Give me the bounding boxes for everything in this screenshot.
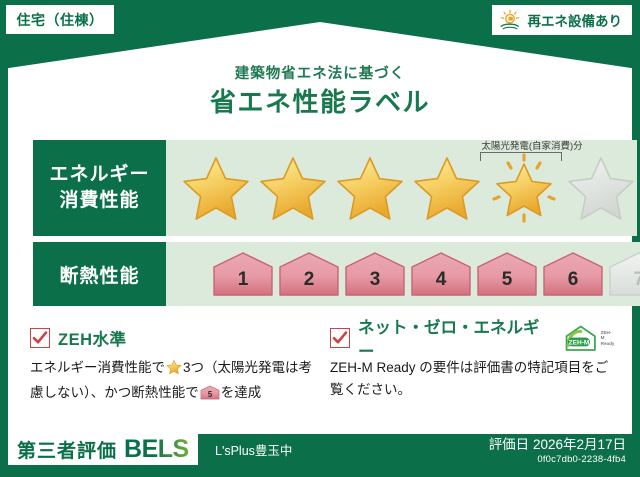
star-filled-3 [334,153,406,223]
zeh-standard-body: エネルギー消費性能で 3つ（太陽光発電は考慮しない）、かつ断熱性能で 5を達成 [30,357,315,407]
solar-annotation-label: 太陽光発電(自家消費)分 [481,138,582,152]
energy-performance-row: エネルギー 消費性能 [33,140,607,236]
grade-value: 5 [502,269,513,297]
star-filled-solar-5 [488,153,560,223]
net-zero-title: ネット・ゼロ・エネルギー [358,314,551,362]
renewable-badge-label: 再エネ設備あり [528,10,623,30]
zeh-standard-header: ZEH水準 [30,326,315,350]
star-filled-4 [411,153,483,223]
grade-value: 1 [238,269,249,297]
renewable-equipment-badge: 再エネ設備あり [492,5,633,35]
zeh-m-ready-text: ZEH-M Ready [601,330,615,346]
property-name: L'sPlus豊玉中 [215,440,292,459]
grade-value: 6 [568,269,579,297]
energy-label-root: 住宅（住棟） 再エネ設備あり 建築物省エネ法に基づく 省エネ性能ラベル [0,0,640,477]
evaluation-date: 評価日 2026年2月17日 [489,433,626,453]
insulation-performance-label: 断熱性能 [33,242,166,306]
inline-star-icon [166,359,182,382]
insulation-grade-5: 5 [475,251,539,297]
star-empty-6 [565,153,637,223]
insulation-grade-6: 6 [541,251,605,297]
energy-rating-area: 太陽光発電(自家消費)分 [166,140,637,236]
insulation-grade-area: 1 2 3 4 [166,242,640,306]
check-icon [332,330,348,346]
sun-icon [498,9,522,31]
category-chip: 住宅（住棟） [6,5,114,34]
bels-en-label: BELS [124,435,189,464]
evaluation-info: 評価日 2026年2月17日 0f0c7db0-2238-4fb4 [489,433,626,465]
evaluation-id: 0f0c7db0-2238-4fb4 [489,454,626,465]
grade-value: 2 [304,269,315,297]
category-chip-label: 住宅（住棟） [17,10,104,30]
grade-value: 4 [436,269,447,297]
insulation-grade-2: 2 [277,251,341,297]
energy-label-line1: エネルギー [49,162,149,188]
star-filled-2 [257,153,329,223]
insulation-label-text: 断熱性能 [59,261,139,288]
star-rating [180,153,637,223]
bels-certification-chip: 第三者評価 BELS [8,433,198,465]
star-filled-1 [180,153,252,223]
page-title: 省エネ性能ラベル [0,82,640,119]
grade-value: 7 [634,269,640,297]
energy-performance-label: エネルギー 消費性能 [33,140,166,236]
inline-house-grade-icon: 5 [200,385,220,407]
grade-value: 3 [370,269,381,297]
svg-text:5: 5 [207,390,212,399]
check-icon [32,330,48,346]
insulation-grade-4: 4 [409,251,473,297]
net-zero-checkbox [330,328,350,348]
insulation-performance-row: 断熱性能 1 2 [33,242,607,306]
label-subtitle: 建築物省エネ法に基づく [0,62,640,83]
net-zero-energy-block: ネット・ゼロ・エネルギー ZEH-M ZEH-M Ready ZEH-M Rea… [330,326,615,401]
zeh-standard-checkbox [30,328,50,348]
insulation-grade-7: 7 [607,251,640,297]
bels-jp-label: 第三者評価 [17,436,117,463]
svg-text:ZEH-M: ZEH-M [569,339,590,346]
insulation-grade-1: 1 [211,251,275,297]
zeh-body-part3: を達成 [221,385,262,400]
zeh-m-house-icon: ZEH-M [563,324,598,352]
zeh-body-part1: エネルギー消費性能で [30,360,165,375]
zeh-standard-title: ZEH水準 [58,326,127,350]
zeh-m-logo: ZEH-M ZEH-M Ready [563,324,615,352]
net-zero-header: ネット・ゼロ・エネルギー ZEH-M ZEH-M Ready [330,326,615,350]
zeh-standard-block: ZEH水準 エネルギー消費性能で 3つ（太陽光発電は考慮しない）、かつ断熱性能で… [30,326,315,407]
insulation-grade-3: 3 [343,251,407,297]
energy-label-line2: 消費性能 [59,188,139,214]
net-zero-body: ZEH-M Ready の要件は評価書の特記項目をご覧ください。 [330,357,615,401]
